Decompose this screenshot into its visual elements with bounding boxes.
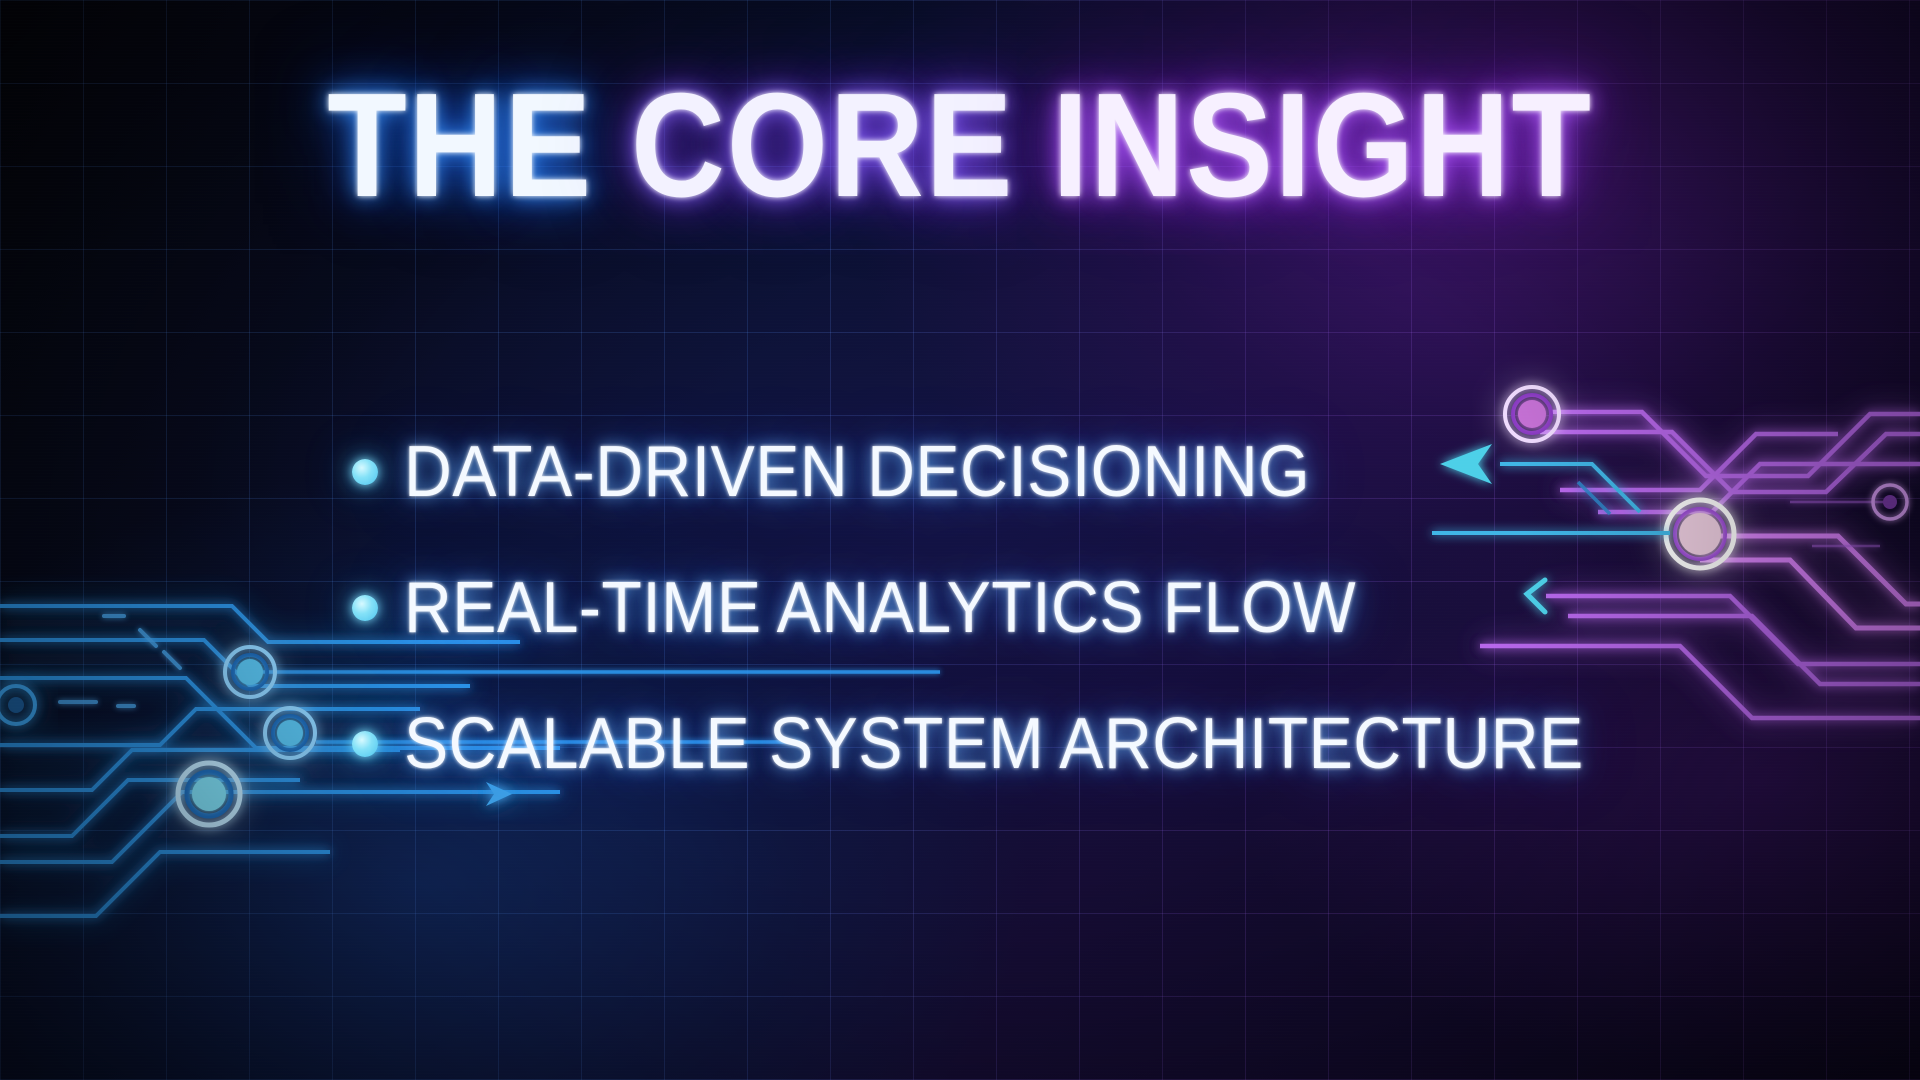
bullet-dot-icon [352,595,378,621]
bullet-label: DATA-DRIVEN DECISIONING [404,431,1310,513]
bullet-label: REAL-TIME ANALYTICS FLOW [404,567,1356,649]
page-title: THE CORE INSIGHT [115,72,1805,220]
bullet-dot-icon [352,459,378,485]
title-segment-core: CORE [631,63,1052,228]
bullet-label: SCALABLE SYSTEM ARCHITECTURE [404,703,1584,785]
title-segment-insight: INSIGHT [1052,63,1593,228]
bullet-dot-icon [352,731,378,757]
title-segment-the: THE [327,63,631,228]
list-item: DATA-DRIVEN DECISIONING [352,404,1772,540]
slide-canvas: THE CORE INSIGHT DATA-DRIVEN DECISIONING… [0,0,1920,1080]
slide-content: THE CORE INSIGHT DATA-DRIVEN DECISIONING… [0,0,1920,1080]
bullet-list: DATA-DRIVEN DECISIONING REAL-TIME ANALYT… [352,404,1772,812]
list-item: SCALABLE SYSTEM ARCHITECTURE [352,676,1772,812]
list-item: REAL-TIME ANALYTICS FLOW [352,540,1772,676]
